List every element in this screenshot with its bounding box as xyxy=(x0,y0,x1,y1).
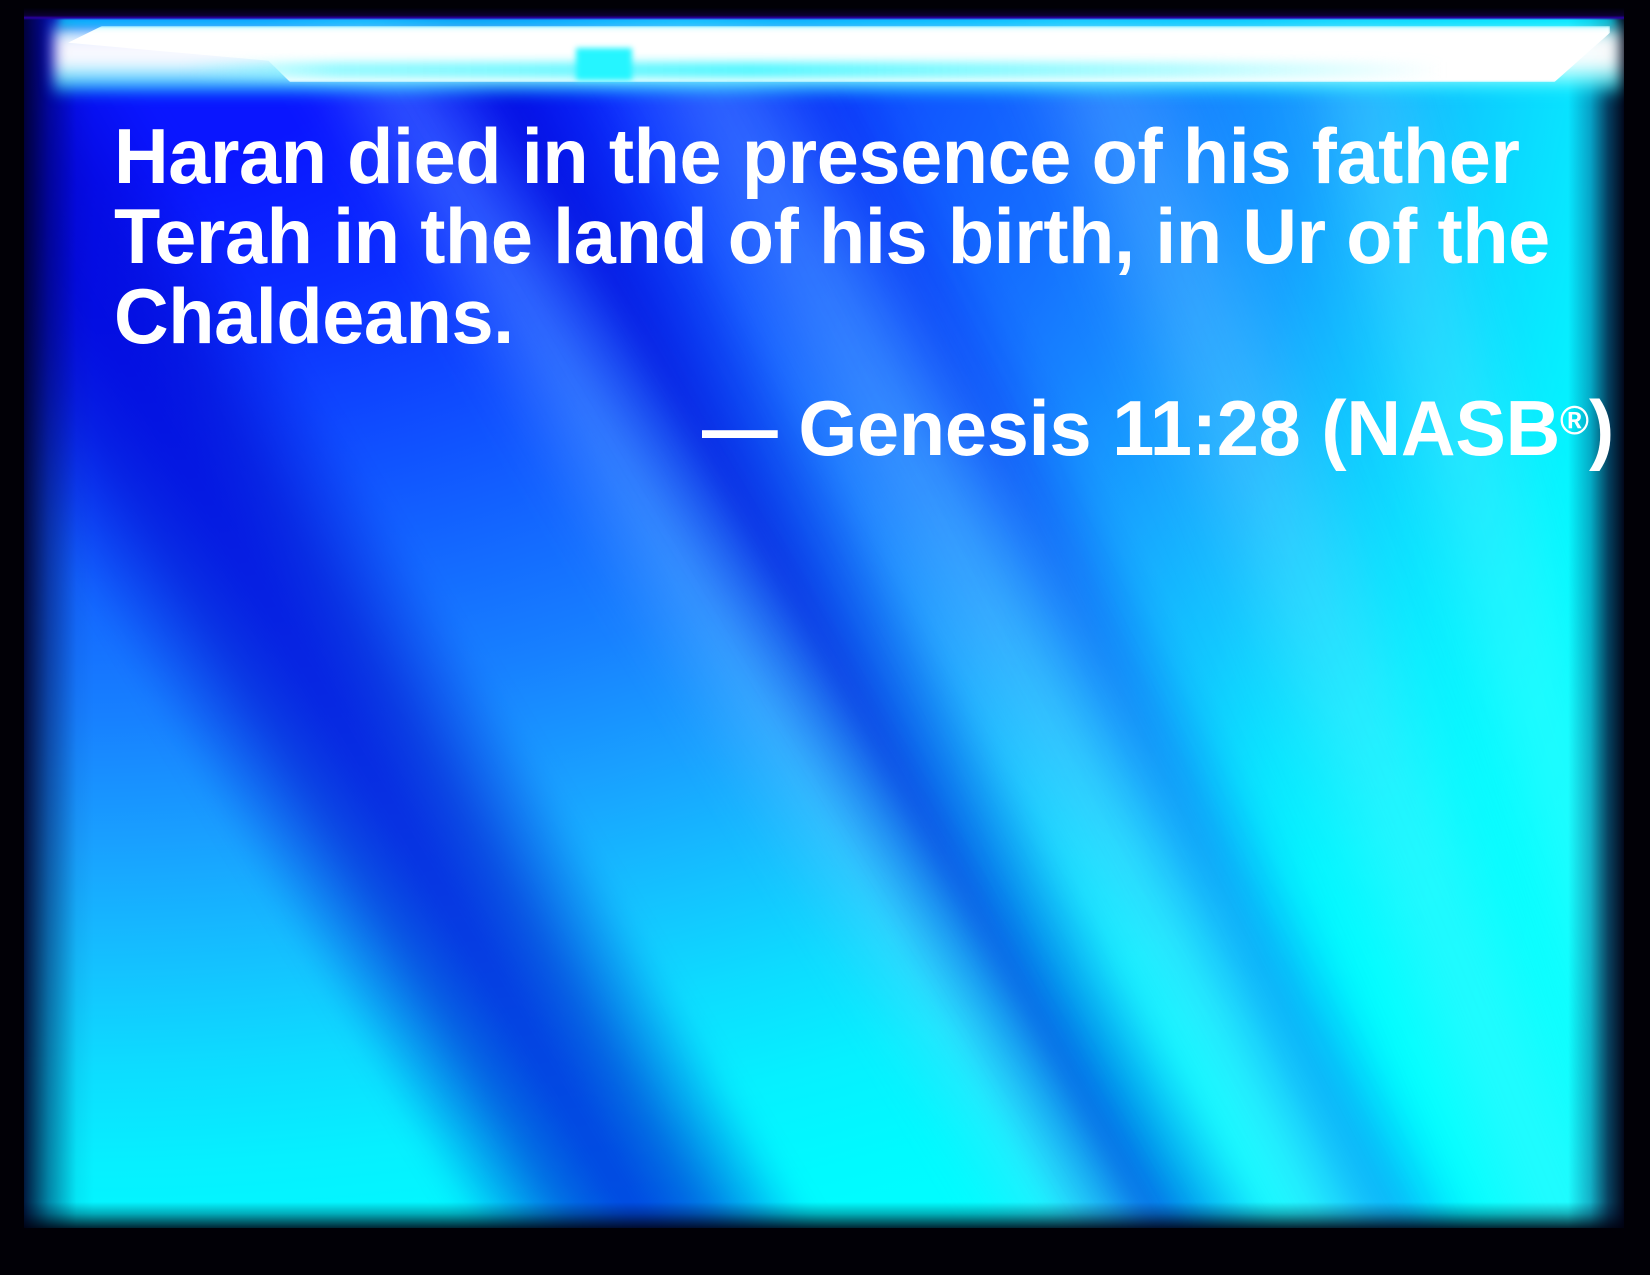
attribution-close-paren: ) xyxy=(1589,384,1614,472)
top-glow-band xyxy=(24,8,1624,116)
background-bottom-vignette xyxy=(24,1202,1624,1228)
attribution-dash: — xyxy=(702,384,777,472)
verse-attribution: — Genesis 11:28 (NASB®) xyxy=(702,380,1614,468)
verse-line-3: Chaldeans. xyxy=(114,276,1453,356)
attribution-reference: 11:28 xyxy=(1112,384,1300,472)
background-right-vignette xyxy=(1568,8,1624,1228)
verse-slide: Haran died in the presence of his father… xyxy=(0,0,1650,1275)
top-glow-band-cyan-streak xyxy=(184,62,1444,78)
attribution-translation: NASB xyxy=(1346,384,1560,472)
verse-line-1: Haran died in the presence of his father xyxy=(114,116,1453,196)
attribution-book: Genesis xyxy=(798,384,1091,472)
top-edge-shadow xyxy=(24,8,1624,20)
background-left-vignette xyxy=(24,8,94,1228)
verse-line-2: Terah in the land of his birth, in Ur of… xyxy=(114,196,1453,276)
verse-text-block: Haran died in the presence of his father… xyxy=(114,116,1494,356)
top-glow-band-cyan-bump xyxy=(576,48,632,80)
registered-trademark-icon: ® xyxy=(1560,397,1589,443)
slide-artboard: Haran died in the presence of his father… xyxy=(24,8,1624,1228)
attribution-open-paren: ( xyxy=(1321,384,1346,472)
